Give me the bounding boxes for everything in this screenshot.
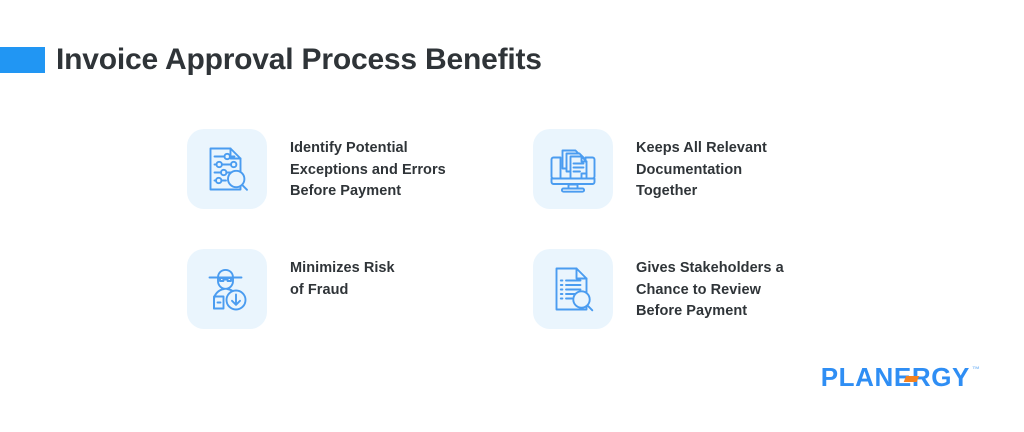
benefit-label-line: Before Payment (290, 181, 446, 203)
planergy-logo: PLANERGY ™ (821, 364, 980, 390)
benefit-label: Minimizes Risk of Fraud (290, 249, 395, 301)
benefit-label-line: Exceptions and Errors (290, 160, 446, 182)
benefit-label-line: Identify Potential (290, 138, 446, 160)
title-accent-block (0, 47, 45, 73)
benefit-item: Minimizes Risk of Fraud (187, 249, 533, 369)
benefit-icon-tile (533, 129, 613, 209)
benefit-label-line: of Fraud (290, 280, 395, 302)
benefit-label-line: Keeps All Relevant (636, 138, 767, 160)
infographic-canvas: Invoice Approval Process Benefits (0, 0, 1024, 432)
benefit-label-line: Documentation (636, 160, 767, 182)
benefit-label-line: Chance to Review (636, 280, 784, 302)
benefit-label: Identify Potential Exceptions and Errors… (290, 129, 446, 203)
page-title: Invoice Approval Process Benefits (56, 38, 542, 82)
fraudster-download-icon (201, 263, 253, 315)
benefits-grid: Identify Potential Exceptions and Errors… (187, 129, 867, 369)
trademark-symbol: ™ (972, 365, 980, 375)
benefit-label: Keeps All Relevant Documentation Togethe… (636, 129, 767, 203)
document-sliders-magnifier-icon (201, 143, 253, 195)
benefit-label-line: Gives Stakeholders a (636, 258, 784, 280)
benefit-icon-tile (187, 129, 267, 209)
benefit-label-line: Together (636, 181, 767, 203)
benefit-icon-tile (187, 249, 267, 329)
benefit-label-line: Minimizes Risk (290, 258, 395, 280)
benefit-label: Gives Stakeholders a Chance to Review Be… (636, 249, 784, 323)
monitor-documents-icon (547, 143, 599, 195)
document-magnifier-icon (547, 263, 599, 315)
benefit-icon-tile (533, 249, 613, 329)
logo-wordmark: PLANERGY (821, 364, 970, 390)
header: Invoice Approval Process Benefits (0, 38, 1024, 88)
benefit-item: Identify Potential Exceptions and Errors… (187, 129, 533, 249)
logo-accent-mark (904, 376, 919, 382)
benefit-label-line: Before Payment (636, 301, 784, 323)
benefit-item: Gives Stakeholders a Chance to Review Be… (533, 249, 879, 369)
benefit-item: Keeps All Relevant Documentation Togethe… (533, 129, 879, 249)
